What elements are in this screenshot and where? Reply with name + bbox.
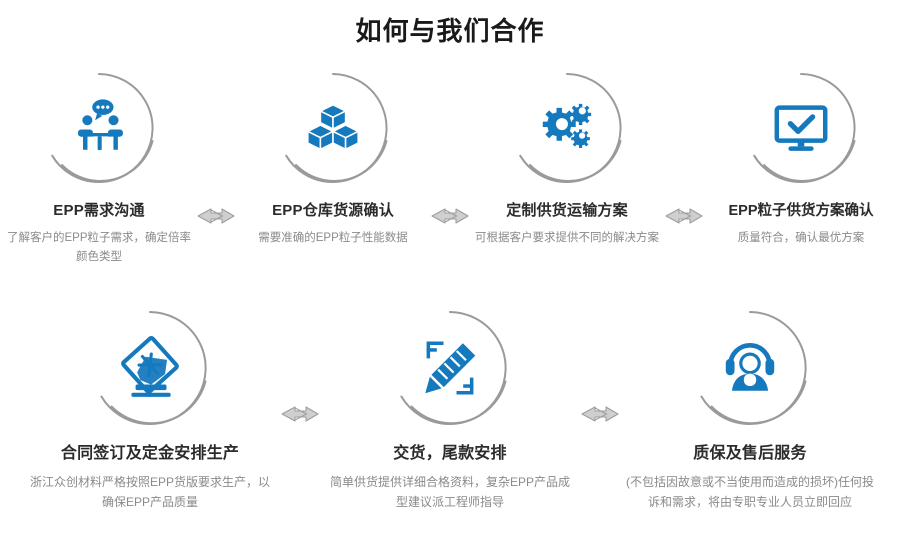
headset-support-icon — [717, 335, 783, 401]
step-description: 质量符合，确认最优方案 — [709, 229, 894, 248]
page-title: 如何与我们合作 — [0, 0, 900, 47]
step-description: (不包括因故意或不当使用而造成的损坏)任何投诉和需求，将由专职专业人员立即回应 — [626, 473, 874, 513]
double-chevron-right-icon — [430, 205, 470, 227]
process-step-5[interactable]: 合同签订及定金安排生产 浙江众创材料严格按照EPP货版要求生产，以确保EPP产品… — [24, 307, 276, 513]
arrow-separator-3 — [662, 205, 706, 227]
step-heading: EPP仓库货源确认 — [272, 199, 394, 220]
step-ring-wrapper — [40, 69, 158, 187]
step-heading: EPP需求沟通 — [53, 199, 144, 220]
gears-icon — [536, 97, 598, 159]
step-description: 需要准确的EPP粒子性能数据 — [241, 229, 426, 248]
arrow-separator-2 — [428, 205, 472, 227]
double-chevron-right-icon — [580, 403, 620, 425]
step-description: 浙江众创材料严格按照EPP货版要求生产，以确保EPP产品质量 — [26, 473, 274, 513]
step-heading: 质保及售后服务 — [693, 439, 806, 463]
step-description: 了解客户的EPP粒子需求，确定倍率颜色类型 — [7, 229, 192, 267]
step-ring-wrapper — [689, 307, 811, 429]
cooperation-process-page: 如何与我们合作 — [0, 0, 900, 538]
meeting-discussion-icon — [68, 97, 130, 159]
step-ring-wrapper — [508, 69, 626, 187]
arrow-separator-5 — [576, 403, 624, 425]
double-chevron-right-icon — [196, 205, 236, 227]
double-chevron-right-icon — [280, 403, 320, 425]
stamp-seal-icon — [117, 335, 183, 401]
step-ring-wrapper — [274, 69, 392, 187]
process-step-1[interactable]: EPP需求沟通 了解客户的EPP粒子需求，确定倍率颜色类型 — [4, 69, 194, 267]
process-step-2[interactable]: EPP仓库货源确认 需要准确的EPP粒子性能数据 — [238, 69, 428, 248]
step-description: 可根据客户要求提供不同的解决方案 — [475, 229, 660, 248]
step-heading: 交货，尾款安排 — [393, 439, 506, 463]
step-heading: 合同签订及定金安排生产 — [61, 439, 239, 463]
double-chevron-right-icon — [664, 205, 704, 227]
step-heading: 定制供货运输方案 — [506, 199, 628, 220]
boxes-stack-icon — [302, 97, 364, 159]
arrow-separator-4 — [276, 403, 324, 425]
step-ring-wrapper — [742, 69, 860, 187]
step-ring-wrapper — [389, 307, 511, 429]
monitor-check-icon — [770, 97, 832, 159]
process-step-4[interactable]: EPP粒子供货方案确认 质量符合，确认最优方案 — [706, 69, 896, 248]
process-step-7[interactable]: 质保及售后服务 (不包括因故意或不当使用而造成的损坏)任何投诉和需求，将由专职专… — [624, 307, 876, 513]
process-step-6[interactable]: 交货，尾款安排 简单供货提供详细合格资料，复杂EPP产品成型建议派工程师指导 — [324, 307, 576, 513]
step-description: 简单供货提供详细合格资料，复杂EPP产品成型建议派工程师指导 — [326, 473, 574, 513]
arrow-separator-1 — [194, 205, 238, 227]
process-row-top: EPP需求沟通 了解客户的EPP粒子需求，确定倍率颜色类型 — [0, 69, 900, 267]
step-heading: EPP粒子供货方案确认 — [728, 199, 873, 220]
process-step-3[interactable]: 定制供货运输方案 可根据客户要求提供不同的解决方案 — [472, 69, 662, 248]
step-ring-wrapper — [89, 307, 211, 429]
pencil-ruler-icon — [417, 335, 483, 401]
process-row-bottom: 合同签订及定金安排生产 浙江众创材料严格按照EPP货版要求生产，以确保EPP产品… — [0, 307, 900, 513]
